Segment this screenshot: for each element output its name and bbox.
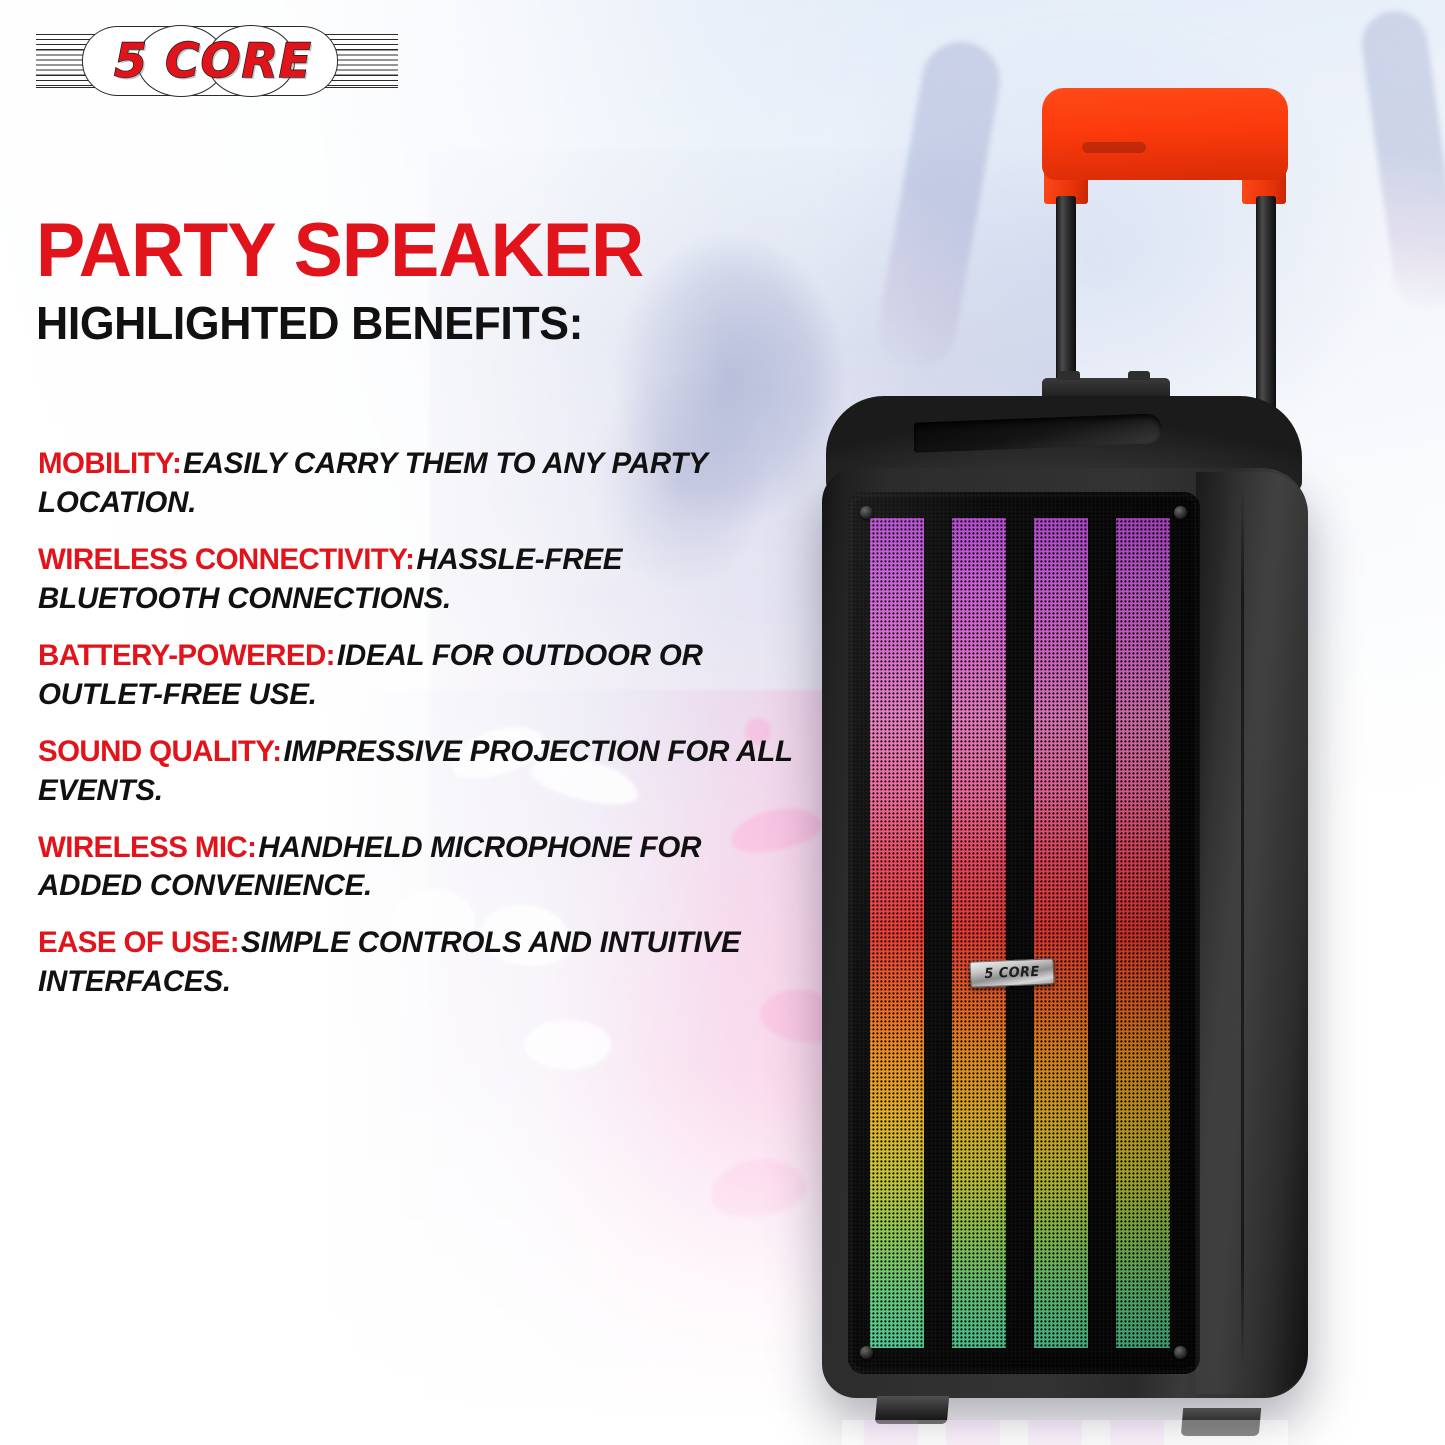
grille-screw — [860, 506, 873, 519]
speaker-cabinet-body: 5 CORE — [822, 468, 1308, 1398]
speaker-cabinet-side-panel — [1196, 472, 1308, 1394]
led-bar-2 — [952, 518, 1006, 1348]
list-item: SOUND QUALITY:IMPRESSIVE PROJECTION FOR … — [38, 733, 808, 811]
carry-handle-recess[interactable] — [914, 413, 1162, 453]
trolley-handle-grip[interactable] — [1042, 88, 1288, 180]
logo-text: 5 CORE — [88, 33, 338, 89]
reflection-fade-overlay — [842, 1420, 1288, 1445]
benefit-label: WIRELESS MIC: — [38, 831, 256, 864]
cabinet-seam-line — [1241, 488, 1244, 1368]
benefit-label: BATTERY-POWERED: — [38, 639, 335, 672]
speaker-grille — [848, 492, 1200, 1374]
led-bar-1 — [870, 518, 924, 1348]
page-subtitle: HIGHLIGHTED BENEFITS: — [36, 296, 643, 350]
list-item: BATTERY-POWERED:IDEAL FOR OUTDOOR OR OUT… — [38, 637, 808, 715]
list-item: WIRELESS MIC:HANDHELD MICROPHONE FOR ADD… — [38, 829, 808, 907]
benefit-label: WIRELESS CONNECTIVITY: — [38, 543, 414, 576]
benefit-label: SOUND QUALITY: — [38, 735, 281, 768]
led-light-bars — [848, 518, 1200, 1348]
page-title: PARTY SPEAKER — [36, 214, 643, 288]
grille-screw — [1174, 1346, 1187, 1359]
benefits-list: MOBILITY:EASILY CARRY THEM TO ANY PARTY … — [38, 445, 808, 1020]
list-item: WIRELESS CONNECTIVITY:HASSLE-FREE BLUETO… — [38, 541, 808, 619]
led-bar-4 — [1116, 518, 1170, 1348]
grille-screw — [1174, 506, 1187, 519]
grille-screw — [860, 1346, 873, 1359]
led-bar-3 — [1034, 518, 1088, 1348]
product-benefits-poster: 5 CORE PARTY SPEAKER HIGHLIGHTED BENEFIT… — [0, 0, 1445, 1445]
brand-logo: 5 CORE — [26, 20, 408, 100]
list-item: MOBILITY:EASILY CARRY THEM TO ANY PARTY … — [38, 445, 808, 523]
product-brand-badge: 5 CORE — [969, 958, 1054, 987]
list-item: EASE OF USE:SIMPLE CONTROLS AND INTUITIV… — [38, 924, 808, 1002]
page-title-block: PARTY SPEAKER HIGHLIGHTED BENEFITS: — [36, 214, 662, 350]
benefit-label: EASE OF USE: — [38, 926, 239, 959]
badge-text: 5 CORE — [984, 964, 1040, 982]
product-image-party-speaker: 5 CORE — [790, 78, 1350, 1445]
benefit-label: MOBILITY: — [38, 447, 181, 480]
